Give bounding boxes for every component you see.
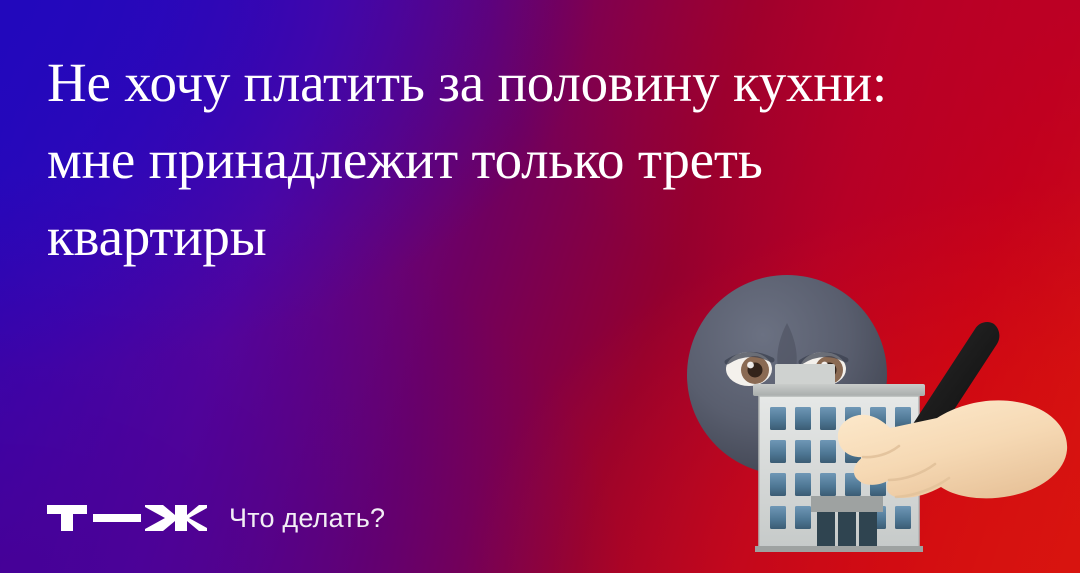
article-cover-card: Не хочу платить за половину кухни: мне п… [0, 0, 1080, 573]
tinkoff-journal-logo[interactable] [47, 503, 207, 533]
cover-illustration [675, 268, 1080, 573]
cover-kicker: Что делать? [229, 505, 385, 532]
page-title: Не хочу платить за половину кухни: мне п… [47, 44, 977, 275]
cover-footer: Что делать? [47, 503, 385, 533]
